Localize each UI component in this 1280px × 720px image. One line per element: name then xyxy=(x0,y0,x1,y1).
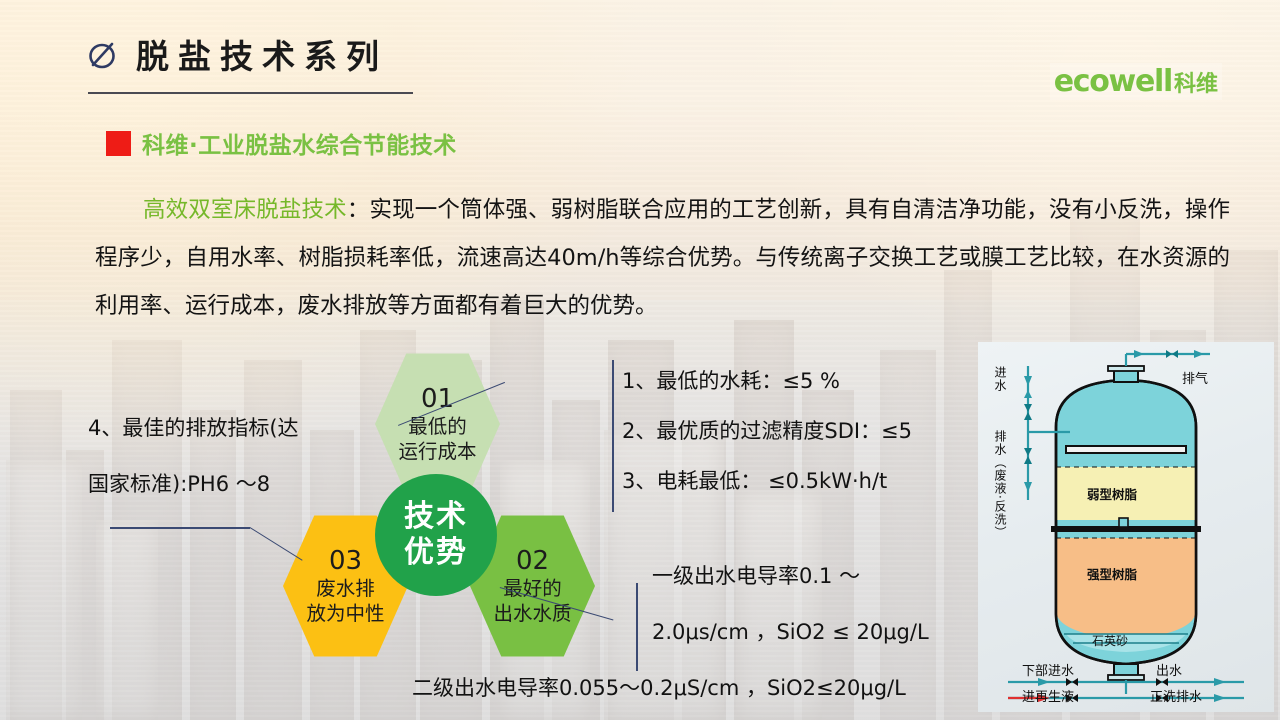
page-title: 脱盐技术系列 xyxy=(136,30,388,78)
hexagon-cluster: 01 最低的 运行成本 02 最好的 出水水质 03 废水排 放为中性 技术 优… xyxy=(283,352,563,642)
hexagon-02-number: 02 xyxy=(516,546,549,576)
note-primary-output: 一级出水电导率0.1 ～ 2.0μs/cm ，SiO2 ≤ 20μg/L xyxy=(652,548,929,660)
logo-chinese-name: 科维 xyxy=(1174,66,1218,98)
hexagon-03-line2: 放为中性 xyxy=(306,601,384,626)
note-primary-output-line2: 2.0μs/cm ，SiO2 ≤ 20μg/L xyxy=(652,604,929,660)
diagram-label-rinse-drain: 正洗排水 xyxy=(1150,686,1202,705)
connector-bottom-right-vertical xyxy=(636,583,638,671)
connector-left-horizontal xyxy=(110,527,250,529)
diagram-label-outlet: 出水 xyxy=(1156,660,1182,679)
diagram-label-drain: 排水（废液·反洗） xyxy=(992,430,1009,570)
slide-header: 脱盐技术系列 xyxy=(86,30,388,78)
note-left: 4、最佳的排放指标(达 国家标准):PH6 ～8 xyxy=(88,400,299,512)
diagram-label-strong-resin: 强型树脂 xyxy=(1087,564,1137,583)
diagram-label-bottom-inlet: 下部进水 xyxy=(1022,660,1074,679)
hexagon-03-line1: 废水排 xyxy=(316,576,375,601)
diagram-label-quartz-sand: 石英砂 xyxy=(1092,632,1128,649)
slashed-circle-icon xyxy=(86,37,120,71)
hexagon-01-line2: 运行成本 xyxy=(398,439,476,464)
hexagon-03-number: 03 xyxy=(329,546,362,576)
red-square-bullet-icon xyxy=(106,131,131,156)
note-right-item-3: 3、电耗最低： ≤0.5kW·h/t xyxy=(622,456,912,506)
diagram-label-inlet-top: 进水 xyxy=(992,366,1009,392)
paragraph-highlight: 高效双室床脱盐技术 xyxy=(143,197,347,223)
note-left-line1: 4、最佳的排放指标(达 xyxy=(88,400,299,456)
brand-logo: ecowell 科维 xyxy=(1050,63,1222,100)
hexagon-center-badge: 技术 优势 xyxy=(375,474,497,596)
diagram-label-vent: 排气 xyxy=(1182,368,1208,387)
note-right-list: 1、最低的水耗：≤5 % 2、最优质的过滤精度SDI：≤5 3、电耗最低： ≤0… xyxy=(622,356,912,506)
section-heading: 科维·工业脱盐水综合节能技术 xyxy=(106,126,457,160)
section-heading-label: 科维·工业脱盐水综合节能技术 xyxy=(142,126,457,160)
logo-wordmark: ecowell xyxy=(1054,64,1172,99)
vessel-diagram: 进水 排水（废液·反洗） 排气 弱型树脂 强型树脂 石英砂 下部进水 出水 进再… xyxy=(978,342,1274,712)
diagram-label-regen-inlet: 进再生液 xyxy=(1022,686,1074,705)
note-secondary-output: 二级出水电导率0.055～0.2μS/cm ，SiO2≤20μg/L xyxy=(412,666,906,710)
note-left-line2: 国家标准):PH6 ～8 xyxy=(88,456,299,512)
title-divider xyxy=(88,92,413,94)
diagram-label-weak-resin: 弱型树脂 xyxy=(1087,484,1137,503)
center-line2: 优势 xyxy=(404,535,468,571)
center-line1: 技术 xyxy=(404,499,468,535)
body-paragraph: 高效双室床脱盐技术：实现一个筒体强、弱树脂联合应用的工艺创新，具有自清洁净功能，… xyxy=(95,186,1230,330)
connector-top-right-vertical xyxy=(612,360,614,512)
note-primary-output-line1: 一级出水电导率0.1 ～ xyxy=(652,548,929,604)
note-right-item-1: 1、最低的水耗：≤5 % xyxy=(622,356,912,406)
note-right-item-2: 2、最优质的过滤精度SDI：≤5 xyxy=(622,406,912,456)
